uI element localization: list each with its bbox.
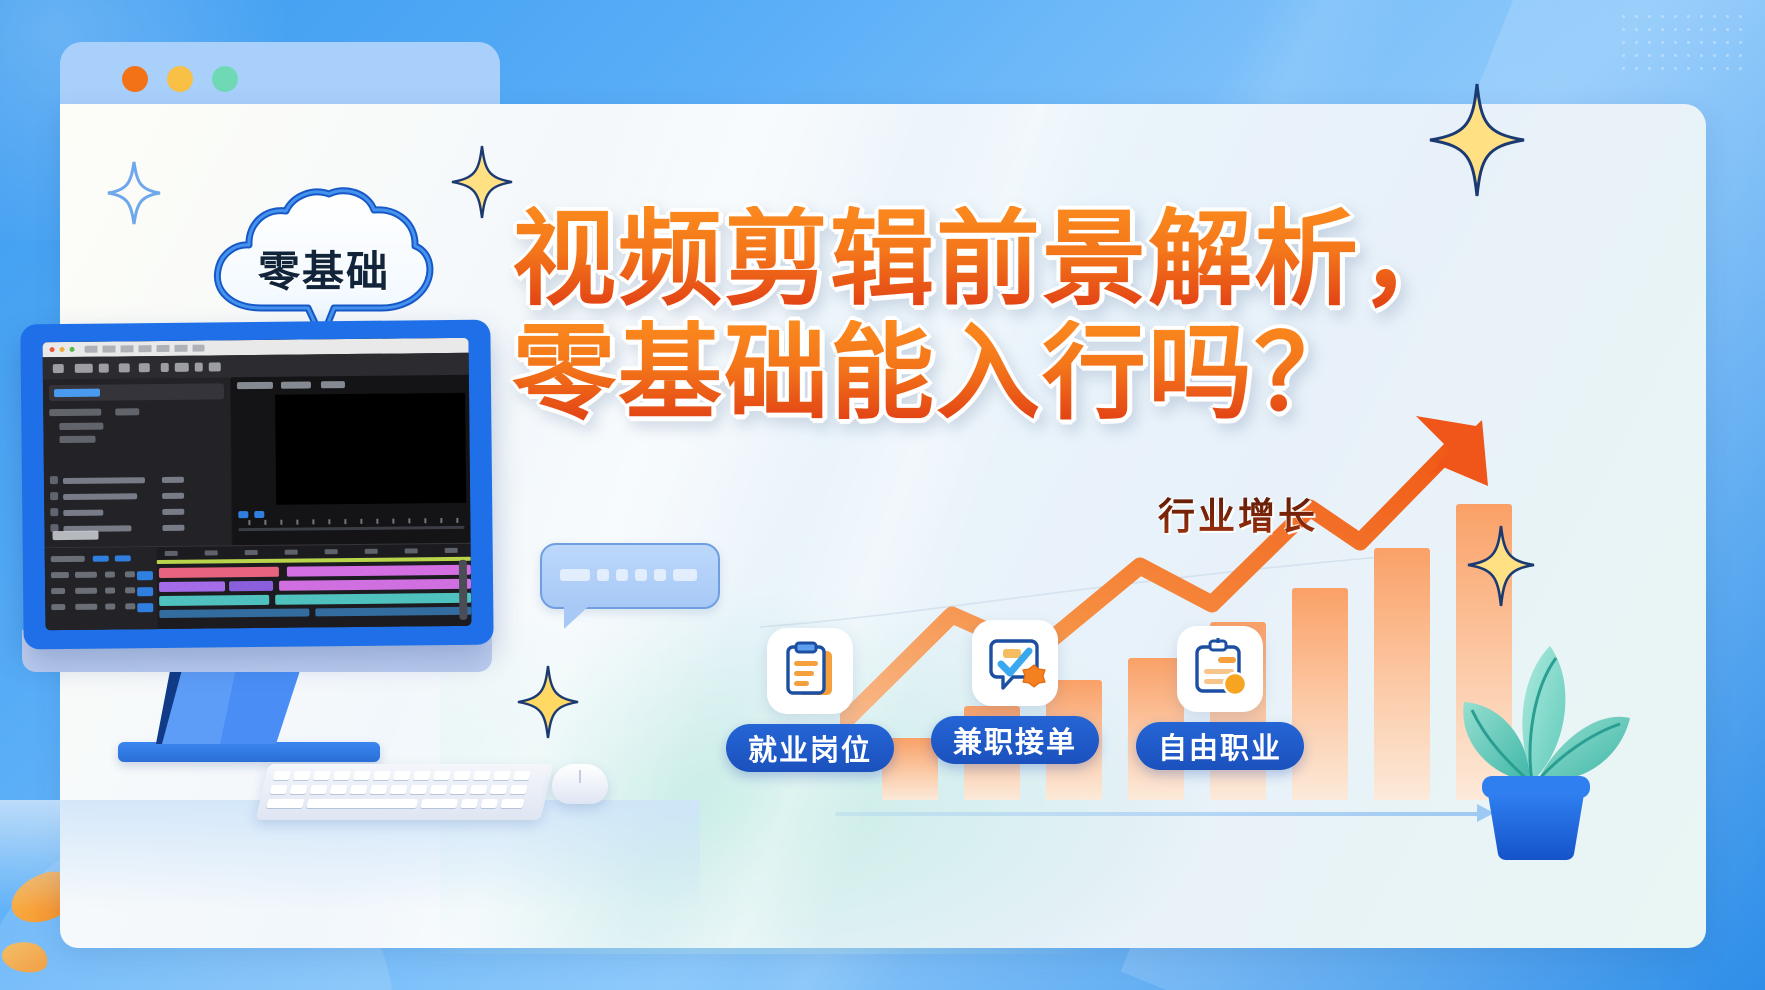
clipboard-person-icon — [1177, 626, 1263, 712]
sparkle-star-icon — [1466, 524, 1536, 608]
badge-freelancer[interactable]: 自由职业 — [1120, 626, 1320, 770]
poster-canvas: 行业增长 视频剪辑前景解析， 零基础能入行吗？ 零基础 — [0, 0, 1765, 990]
page-title: 视频剪辑前景解析， 零基础能入行吗？ — [512, 206, 1492, 428]
editor-asset-row[interactable] — [50, 472, 222, 487]
timeline-track[interactable] — [159, 579, 471, 592]
headline-line-2: 零基础能入行吗？ — [512, 320, 1492, 428]
plant-leaves — [1463, 646, 1630, 782]
chat-bubble-tail — [564, 605, 590, 629]
video-editor-screen[interactable] — [42, 338, 471, 630]
editor-menubar-text — [85, 345, 205, 353]
window-controls[interactable] — [122, 66, 238, 92]
sparkle-star-icon — [106, 160, 162, 226]
badge-employment[interactable]: 就业岗位 — [710, 628, 910, 772]
checkmark-chat-badge-icon — [972, 620, 1058, 706]
editor-search-field[interactable] — [49, 383, 224, 401]
keyboard[interactable] — [256, 764, 554, 820]
placeholder-chat-bubble — [540, 543, 720, 609]
timeline-marker-line — [157, 557, 471, 564]
timeline-track[interactable] — [159, 607, 471, 620]
editor-close-dot[interactable] — [50, 347, 55, 352]
minimize-dot[interactable] — [167, 66, 193, 92]
editor-minimize-dot[interactable] — [60, 347, 65, 352]
close-dot[interactable] — [122, 66, 148, 92]
maximize-dot[interactable] — [212, 66, 238, 92]
sparkle-star-icon — [1428, 82, 1526, 198]
editor-asset-row[interactable] — [50, 504, 222, 519]
clipboard-document-icon — [767, 628, 853, 714]
badge-freelance-orders[interactable]: 兼职接单 — [915, 620, 1115, 764]
cloud-badge-label: 零基础 — [204, 238, 444, 299]
plant-pot — [1482, 776, 1590, 860]
editor-preview-panel[interactable] — [231, 375, 471, 545]
editor-preview-video — [275, 393, 466, 505]
feature-badge-group: 就业岗位 兼职接单 — [710, 628, 1350, 768]
badge-freelance-orders-label[interactable]: 兼职接单 — [931, 716, 1099, 764]
potted-plant — [1434, 630, 1634, 860]
desktop-monitor — [20, 320, 493, 650]
timeline-track[interactable] — [159, 565, 471, 578]
sparkle-star-icon — [450, 144, 514, 220]
editor-maximize-dot[interactable] — [70, 347, 75, 352]
timeline-ruler[interactable] — [157, 546, 471, 558]
editor-preview-controls[interactable] — [238, 509, 464, 541]
editor-timeline-panel[interactable] — [45, 543, 472, 630]
mouse[interactable] — [552, 764, 608, 804]
badge-freelancer-label[interactable]: 自由职业 — [1136, 722, 1304, 770]
growth-annotation-label: 行业增长 — [1158, 486, 1318, 540]
badge-employment-label[interactable]: 就业岗位 — [726, 724, 894, 772]
chart-baseline-axis — [835, 808, 1513, 818]
editor-asset-row[interactable] — [50, 488, 222, 503]
chat-bubble-placeholder-dashes — [560, 569, 697, 581]
editor-project-panel[interactable] — [43, 377, 232, 547]
sparkle-star-icon — [516, 664, 580, 740]
timeline-track[interactable] — [159, 593, 471, 606]
headline-line-1: 视频剪辑前景解析， — [512, 206, 1492, 314]
editor-asset-list[interactable] — [44, 472, 231, 474]
timeline-scrollbar[interactable] — [459, 560, 468, 620]
